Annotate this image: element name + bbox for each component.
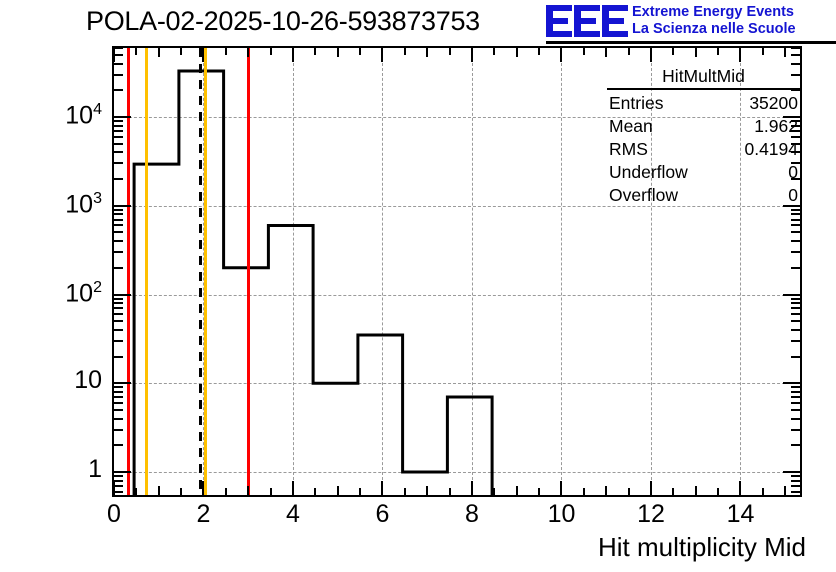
x-tick-minor [158,486,160,495]
x-tick-minor [628,488,630,495]
y-tick-minor-right [791,313,800,315]
y-tick-minor-right [791,219,800,221]
x-axis-tick-label: 10 [531,502,591,527]
y-tick-minor-right [791,391,800,393]
y-tick-minor-right [791,444,800,446]
x-axis-tick-label: 6 [352,502,412,527]
y-tick-minor [114,302,123,304]
x-tick-minor-top [225,48,227,55]
y-tick-minor [114,240,123,242]
stats-row: Underflow0 [607,161,800,184]
y-tick-minor [114,47,123,49]
x-tick-minor [180,488,182,495]
x-axis-tick-label: 14 [710,502,770,527]
stats-row-key: Entries [609,92,663,115]
x-tick-minor-top [583,48,585,55]
y-tick-minor [114,54,123,56]
x-tick-minor [426,486,428,495]
root-canvas: POLA-02-2025-10-26-593873753 Extreme Ene… [0,0,836,572]
x-tick-minor [516,486,518,495]
y-tick-minor-right [791,418,800,420]
y-tick-minor [114,391,123,393]
y-tick-minor-right [791,302,800,304]
y-tick-minor [114,386,123,388]
y-tick-minor [114,130,123,132]
y-tick-major-right [783,294,800,296]
x-tick-minor [247,486,249,495]
stats-row-value: 0 [788,161,798,184]
x-tick-minor-top [247,48,249,57]
y-tick-major-right [783,382,800,384]
x-tick-minor [762,488,764,495]
eee-logo-icon [546,3,628,39]
logo-line-2: La Scienza nelle Scuole [632,21,796,37]
y-tick-minor [114,224,123,226]
x-tick-minor [672,488,674,495]
y-tick-minor [114,151,123,153]
y-tick-minor-right [791,213,800,215]
y-tick-major [114,205,131,207]
y-tick-minor [114,485,123,487]
x-tick-major-top [471,48,473,62]
y-tick-minor-right [791,356,800,358]
stats-title: HitMultMid [607,66,800,88]
y-tick-minor [114,396,123,398]
x-axis-tick-label: 2 [173,502,233,527]
y-tick-minor [114,267,123,269]
x-tick-major-top [560,48,562,62]
y-tick-minor [114,209,123,211]
y-tick-minor-right [791,47,800,49]
y-tick-minor-right [791,320,800,322]
stats-row: Overflow0 [607,184,800,207]
y-tick-minor [114,162,123,164]
stats-row: Mean1.962 [607,115,800,138]
logo-underline [546,41,836,44]
x-tick-major [471,481,473,495]
x-tick-minor [135,488,137,495]
stats-row-value: 0 [788,184,798,207]
y-tick-major [114,382,131,384]
x-tick-minor [583,488,585,495]
x-tick-minor-top [180,48,182,55]
x-tick-major-top [650,48,652,62]
y-tick-minor-right [791,409,800,411]
x-tick-minor [225,488,227,495]
y-tick-major-right [783,471,800,473]
x-tick-major-top [739,48,741,62]
x-tick-minor-top [695,48,697,57]
y-tick-minor-right [791,54,800,56]
x-tick-minor-top [314,48,316,55]
x-tick-minor-top [784,48,786,57]
y-tick-minor-right [791,224,800,226]
y-tick-minor-right [791,429,800,431]
x-tick-minor-top [762,48,764,55]
x-tick-major [381,481,383,495]
y-tick-minor [114,89,123,91]
y-tick-minor [114,307,123,309]
y-tick-minor [114,74,123,76]
y-axis-tick-label: 1 [0,457,102,482]
y-tick-minor-right [791,485,800,487]
y-tick-minor [114,475,123,477]
y-axis-tick-label: 10 [0,368,102,393]
y-tick-minor [114,329,123,331]
stats-row: RMS0.4194 [607,138,800,161]
x-axis-tick-label: 4 [263,502,323,527]
x-tick-minor [605,486,607,495]
y-tick-minor [114,298,123,300]
y-tick-minor [114,444,123,446]
y-tick-minor [114,136,123,138]
x-axis-title: Hit multiplicity Mid [598,532,806,563]
y-tick-minor-right [791,231,800,233]
x-tick-major [292,481,294,495]
y-tick-minor-right [791,475,800,477]
x-tick-minor [270,488,272,495]
y-tick-minor [114,143,123,145]
x-tick-major [739,481,741,495]
stats-row-value: 0.4194 [744,138,798,161]
stats-row: Entries35200 [607,92,800,115]
x-tick-minor [695,486,697,495]
y-tick-minor [114,178,123,180]
y-tick-minor [114,320,123,322]
x-tick-minor-top [158,48,160,57]
y-tick-minor-right [791,240,800,242]
y-axis-tick-label: 102 [0,280,102,306]
x-tick-minor-top [493,48,495,55]
x-tick-major [202,481,204,495]
x-tick-minor-top [449,48,451,55]
x-tick-minor [314,488,316,495]
x-tick-major [560,481,562,495]
y-tick-minor-right [791,251,800,253]
x-tick-minor-top [717,48,719,55]
y-tick-major [114,471,131,473]
y-tick-minor [114,409,123,411]
y-axis-tick-label: 103 [0,191,102,217]
y-tick-minor [114,231,123,233]
x-tick-minor [359,488,361,495]
x-tick-minor [784,486,786,495]
eee-logo: Extreme Energy Events La Scienza nelle S… [546,2,832,42]
y-tick-minor-right [791,386,800,388]
y-axis-tick-label: 104 [0,102,102,128]
y-tick-minor [114,213,123,215]
x-tick-major [650,481,652,495]
y-tick-minor [114,340,123,342]
y-tick-minor [114,491,123,493]
x-tick-major [113,481,115,495]
x-tick-minor-top [359,48,361,55]
stats-row-key: Overflow [609,184,678,207]
y-tick-minor [114,251,123,253]
x-tick-minor [717,488,719,495]
y-tick-minor-right [791,63,800,65]
y-tick-minor [114,219,123,221]
stats-row-key: Mean [609,115,653,138]
y-tick-minor [114,313,123,315]
y-tick-minor [114,402,123,404]
stats-divider [607,88,800,90]
y-tick-minor-right [791,267,800,269]
y-tick-minor-right [791,480,800,482]
x-tick-minor-top [270,48,272,55]
stats-box: HitMultMid Entries35200Mean1.962RMS0.419… [607,66,800,207]
y-tick-minor-right [791,402,800,404]
y-tick-minor [114,418,123,420]
x-tick-minor-top [605,48,607,57]
x-axis-tick-label: 8 [442,502,502,527]
stats-row-value: 35200 [749,92,798,115]
y-tick-minor-right [791,307,800,309]
x-tick-minor [337,486,339,495]
y-tick-minor-right [791,491,800,493]
x-axis-tick-label: 12 [621,502,681,527]
y-tick-minor [114,480,123,482]
y-tick-major [114,294,131,296]
y-tick-minor [114,120,123,122]
x-tick-minor-top [628,48,630,55]
x-axis-tick-label: 0 [84,502,144,527]
x-tick-minor-top [538,48,540,55]
x-tick-major-top [292,48,294,62]
y-tick-minor-right [791,298,800,300]
x-tick-major-top [381,48,383,62]
y-tick-minor [114,356,123,358]
y-tick-minor-right [791,329,800,331]
y-tick-minor-right [791,340,800,342]
y-tick-minor [114,429,123,431]
y-tick-major [114,116,131,118]
stats-row-value: 1.962 [754,115,798,138]
x-tick-major-top [202,48,204,62]
y-tick-minor-right [791,396,800,398]
x-tick-minor-top [337,48,339,57]
x-tick-minor [404,488,406,495]
x-tick-minor [449,488,451,495]
y-tick-minor [114,125,123,127]
stats-row-key: RMS [609,138,648,161]
y-tick-minor-right [791,209,800,211]
x-tick-minor [538,488,540,495]
x-tick-minor-top [135,48,137,55]
logo-line-1: Extreme Energy Events [632,4,794,20]
x-tick-minor-top [516,48,518,57]
plot-title: POLA-02-2025-10-26-593873753 [86,6,480,37]
x-tick-minor [493,488,495,495]
stats-row-key: Underflow [609,161,688,184]
x-tick-minor-top [426,48,428,57]
y-tick-minor [114,63,123,65]
x-tick-minor-top [404,48,406,55]
x-tick-minor-top [672,48,674,55]
